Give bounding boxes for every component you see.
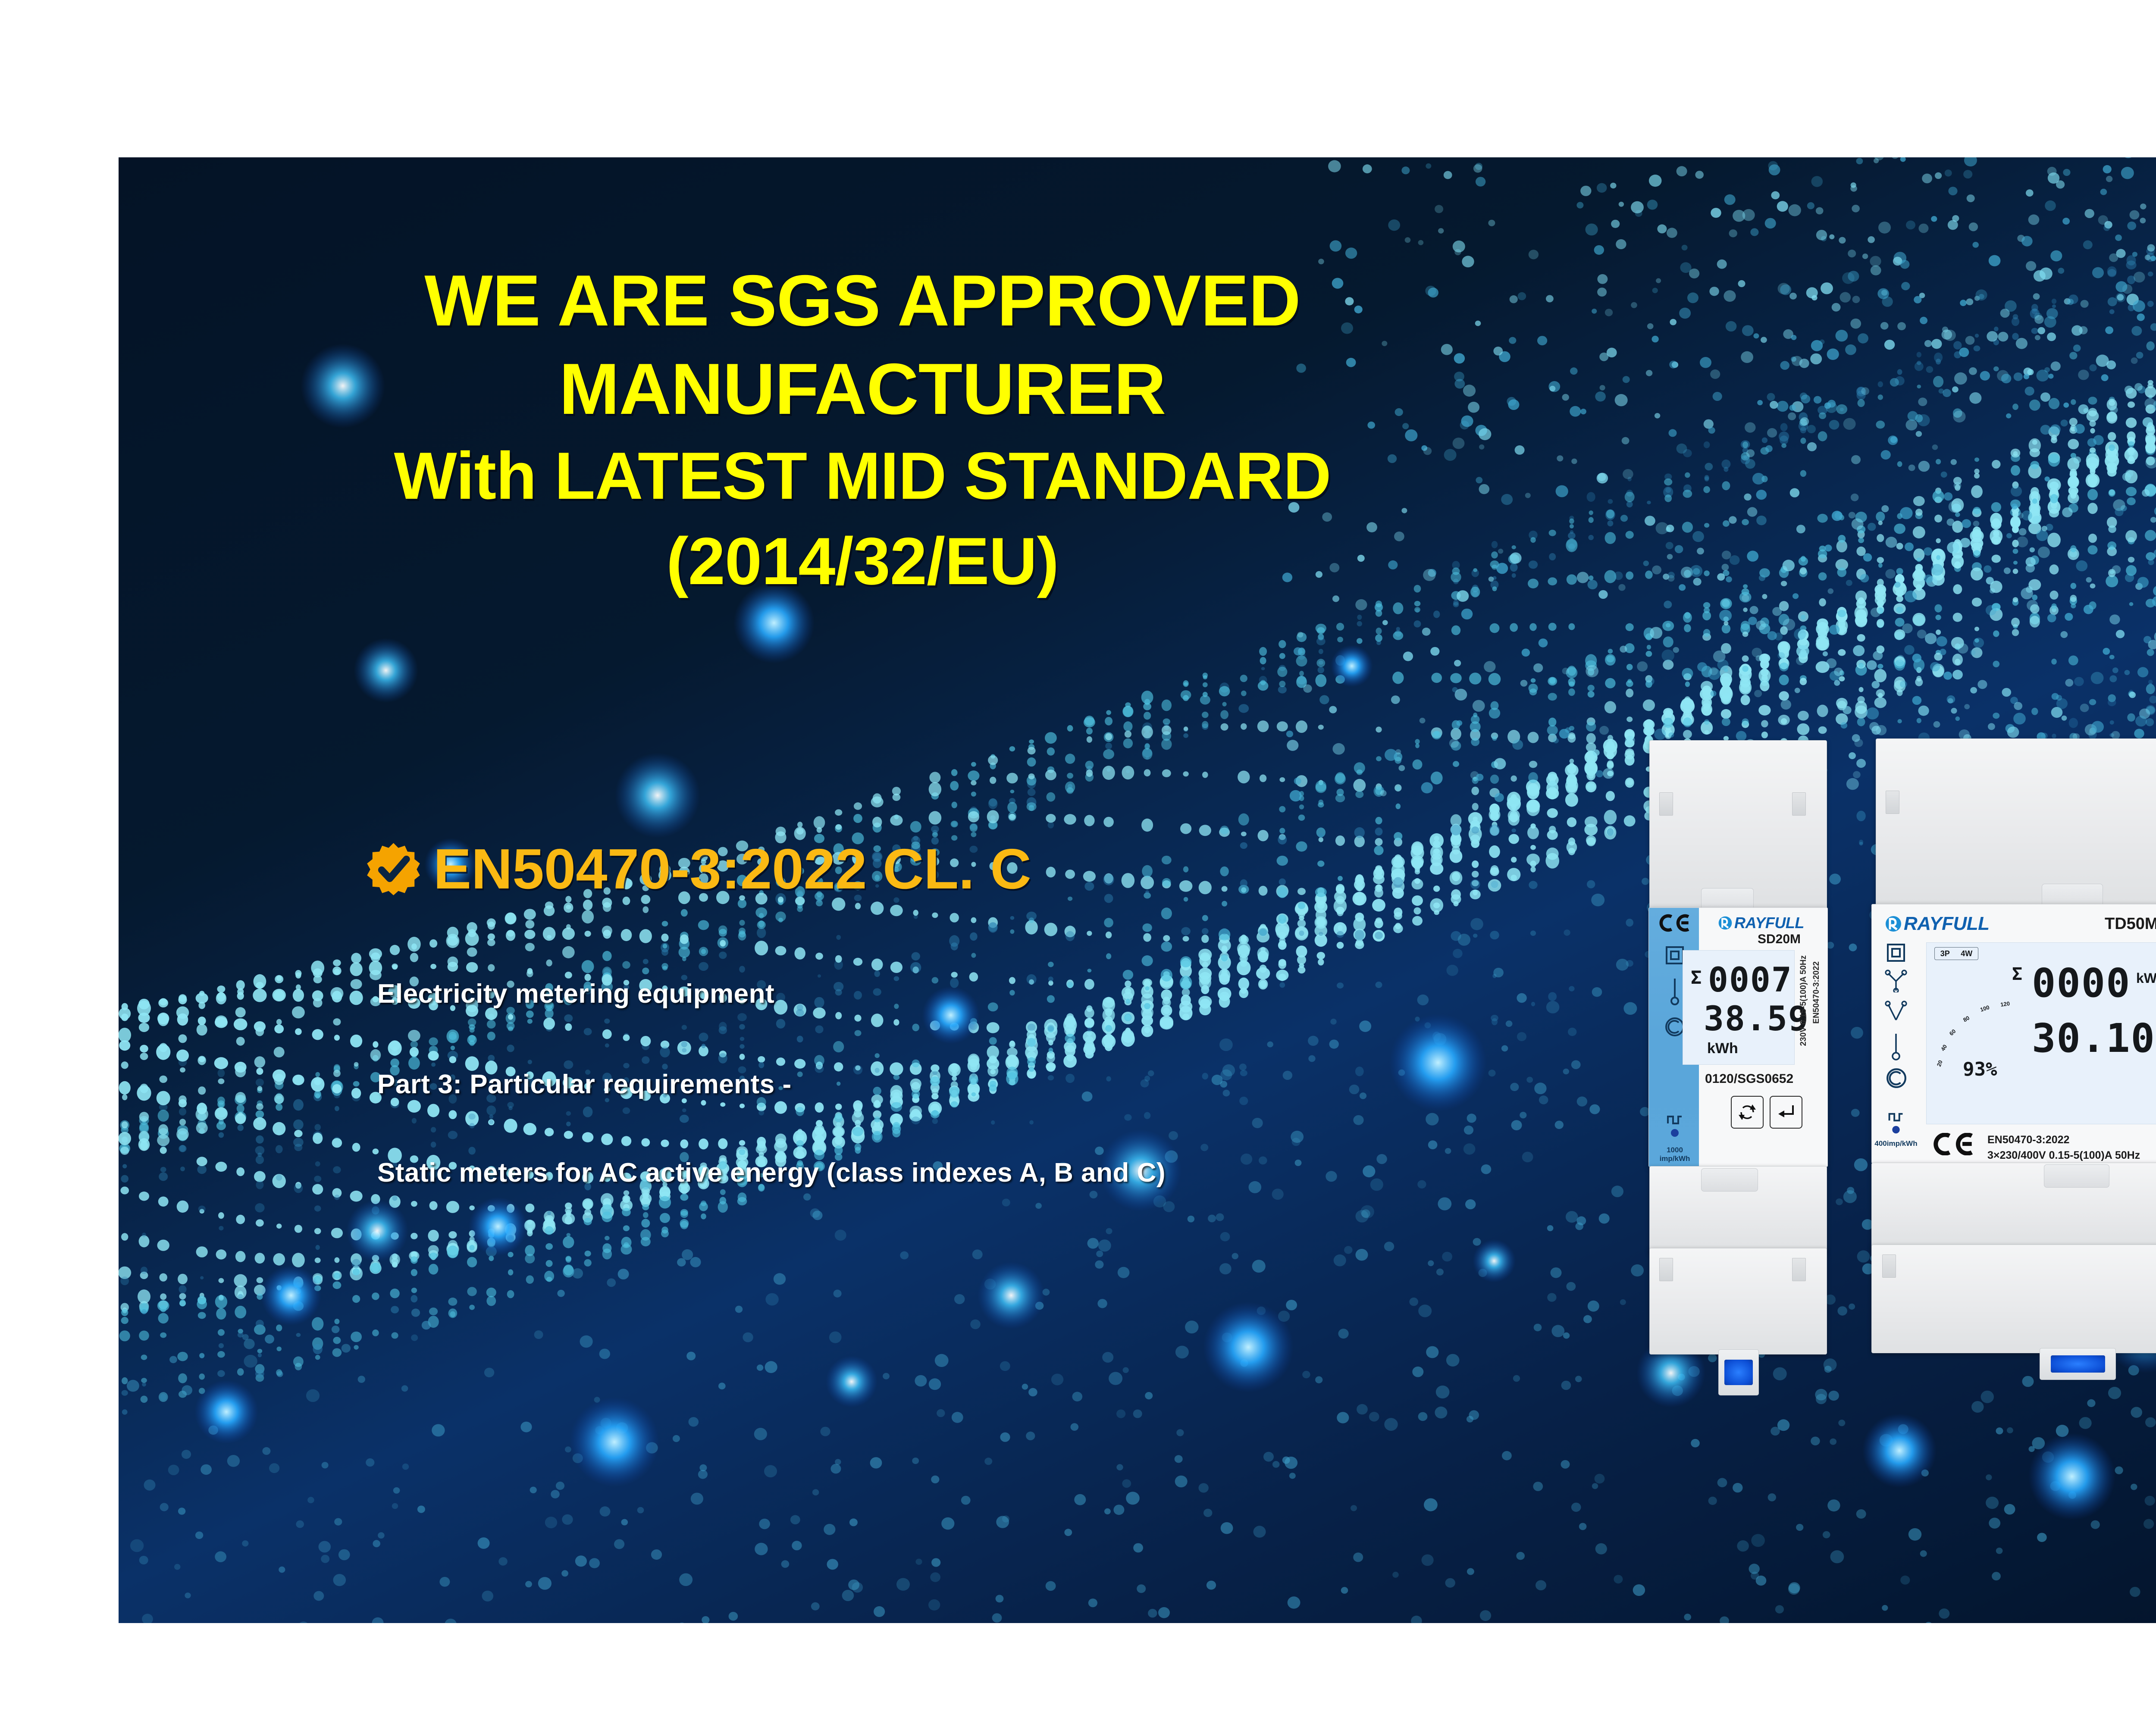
bar-tick-120: 120 <box>2000 1000 2010 1008</box>
td50m-lcd-unit: kWh <box>2136 970 2156 986</box>
headline-line-1: WE ARE SGS APPROVED MANUFACTURER <box>119 256 1606 433</box>
sd20m-front-face: 1000 imp/kWh RAYFULL SD20M Σ 0007 38.59 … <box>1648 907 1828 1167</box>
sd20m-lcd-bottom-value: 38.59 <box>1704 1000 1809 1038</box>
single-phase-icon <box>1668 977 1682 1007</box>
td50m-brand-logo: RAYFULL <box>1885 913 1990 935</box>
ce-mark-icon <box>1658 914 1691 932</box>
single-phase-icon <box>1889 1032 1903 1062</box>
td50m-bottom-housing <box>1871 1163 2156 1250</box>
verified-seal-icon <box>367 842 420 896</box>
td50m-lcd-bottom-value: 30.10 <box>2032 1015 2156 1061</box>
td50m-bargraph: 20 40 60 80 100 120 <box>1936 976 2018 1070</box>
td50m-top-housing <box>1876 738 2156 907</box>
sd20m-din-rail-clip <box>1718 1349 1759 1395</box>
body-line-3: Static meters for AC active energy (clas… <box>377 1157 1166 1188</box>
sd20m-brand-logo: RAYFULL <box>1718 914 1804 932</box>
sd20m-lcd-unit: kWh <box>1707 1040 1738 1057</box>
td50m-model-label: TD50M <box>2105 915 2156 933</box>
clip-highlight <box>1724 1360 1753 1385</box>
rayfull-mark-icon <box>1885 915 1902 932</box>
class-II-square-icon <box>1887 943 1905 962</box>
product-photo-group: 1000 imp/kWh RAYFULL SD20M Σ 0007 38.59 … <box>1611 731 2156 1390</box>
bar-tick-40: 40 <box>1940 1043 1948 1052</box>
td50m-rating-label: 3×230/400V 0.15-5(100)A 50Hz <box>1987 1149 2140 1162</box>
rayfull-mark-icon <box>1718 916 1733 930</box>
pulse-led-icon <box>1887 1111 1905 1136</box>
sd20m-sgs-number: 0120/SGS0652 <box>1705 1072 1793 1086</box>
pulse-led-icon <box>1667 1114 1683 1140</box>
class-c-icon <box>1664 1017 1685 1037</box>
td50m-lcd-top-value: 0000 <box>2032 960 2131 1006</box>
standard-label: EN50470-3:2022 CL. C <box>433 836 1031 901</box>
td50m-phase-indicator: 3P 4W <box>1934 947 1978 960</box>
clip-highlight <box>2051 1355 2105 1373</box>
bar-tick-80: 80 <box>1962 1014 1971 1023</box>
sd20m-top-housing <box>1649 740 1827 909</box>
standard-badge-row: EN50470-3:2022 CL. C <box>367 836 1031 901</box>
terminal-slot <box>1792 1258 1806 1281</box>
sd20m-rating-line-1: 230V 0.15-5(100)A 50Hz <box>1799 955 1808 1046</box>
terminal-slot <box>1882 1254 1896 1278</box>
sd20m-lcd-sigma: Σ <box>1691 967 1702 988</box>
sd20m-rating-line-2: EN50470-3:2022 <box>1812 961 1821 1024</box>
td50m-bargraph-percent: 93% <box>1963 1058 1997 1080</box>
terminal-slot <box>1886 791 1899 814</box>
sd20m-bottom-notch <box>1701 1168 1758 1192</box>
body-line-2: Part 3: Particular requirements - <box>377 1069 792 1100</box>
td50m-pulse-rate: 400imp/kWh <box>1872 1139 1920 1148</box>
class-II-square-icon <box>1665 946 1684 965</box>
meter-sd20m: 1000 imp/kWh RAYFULL SD20M Σ 0007 38.59 … <box>1636 735 1839 1382</box>
bar-tick-100: 100 <box>1979 1004 1990 1013</box>
slide-canvas: WE ARE SGS APPROVED MANUFACTURER With LA… <box>119 157 2156 1623</box>
sd20m-lcd-top-value: 0007 <box>1708 961 1792 1000</box>
phase-tag-4w: 4W <box>1961 949 1972 958</box>
ce-mark-icon <box>1932 1133 1975 1155</box>
body-line-1: Electricity metering equipment <box>377 979 774 1009</box>
headline-line-3: (2014/32/EU) <box>119 519 1606 604</box>
td50m-terminal-housing <box>1871 1245 2156 1353</box>
td50m-lcd-display: 3P 4W Σ 20 40 60 80 100 120 93% <box>1926 942 2156 1124</box>
td50m-bottom-notch <box>2044 1164 2109 1188</box>
td50m-front-face: RAYFULL TD50M 0120/SGS0653 <box>1871 904 2156 1164</box>
sd20m-pulse-rate: 1000 imp/kWh <box>1652 1146 1697 1163</box>
bar-tick-60: 60 <box>1948 1028 1957 1037</box>
circular-arrows-icon <box>1737 1102 1758 1123</box>
delta-connection-icon <box>1885 1000 1907 1023</box>
terminal-slot <box>1659 1258 1673 1281</box>
bar-tick-20: 20 <box>1936 1059 1944 1067</box>
phase-tag-3p: 3P <box>1940 949 1950 958</box>
td50m-din-rail-clip <box>2040 1348 2116 1380</box>
sd20m-terminal-housing <box>1649 1248 1827 1354</box>
td50m-standard-label: EN50470-3:2022 <box>1987 1134 2069 1146</box>
terminal-slot <box>1792 792 1806 816</box>
sd20m-enter-button[interactable] <box>1770 1096 1802 1129</box>
sd20m-lcd-display: Σ 0007 38.59 kWh <box>1683 950 1795 1065</box>
star-connection-icon <box>1885 969 1907 992</box>
meter-td50m: RAYFULL TD50M 0120/SGS0653 <box>1867 731 2156 1377</box>
headline-line-2: With LATEST MID STANDARD <box>119 433 1606 519</box>
terminal-slot <box>1659 792 1673 816</box>
sd20m-model-label: SD20M <box>1758 932 1801 947</box>
sd20m-scroll-button[interactable] <box>1731 1096 1764 1129</box>
sd20m-brand-name: RAYFULL <box>1734 914 1804 932</box>
td50m-brand-name: RAYFULL <box>1904 913 1990 935</box>
enter-arrow-icon <box>1776 1102 1796 1123</box>
class-c-icon <box>1886 1067 1907 1089</box>
headline-block: WE ARE SGS APPROVED MANUFACTURER With LA… <box>119 256 1606 604</box>
